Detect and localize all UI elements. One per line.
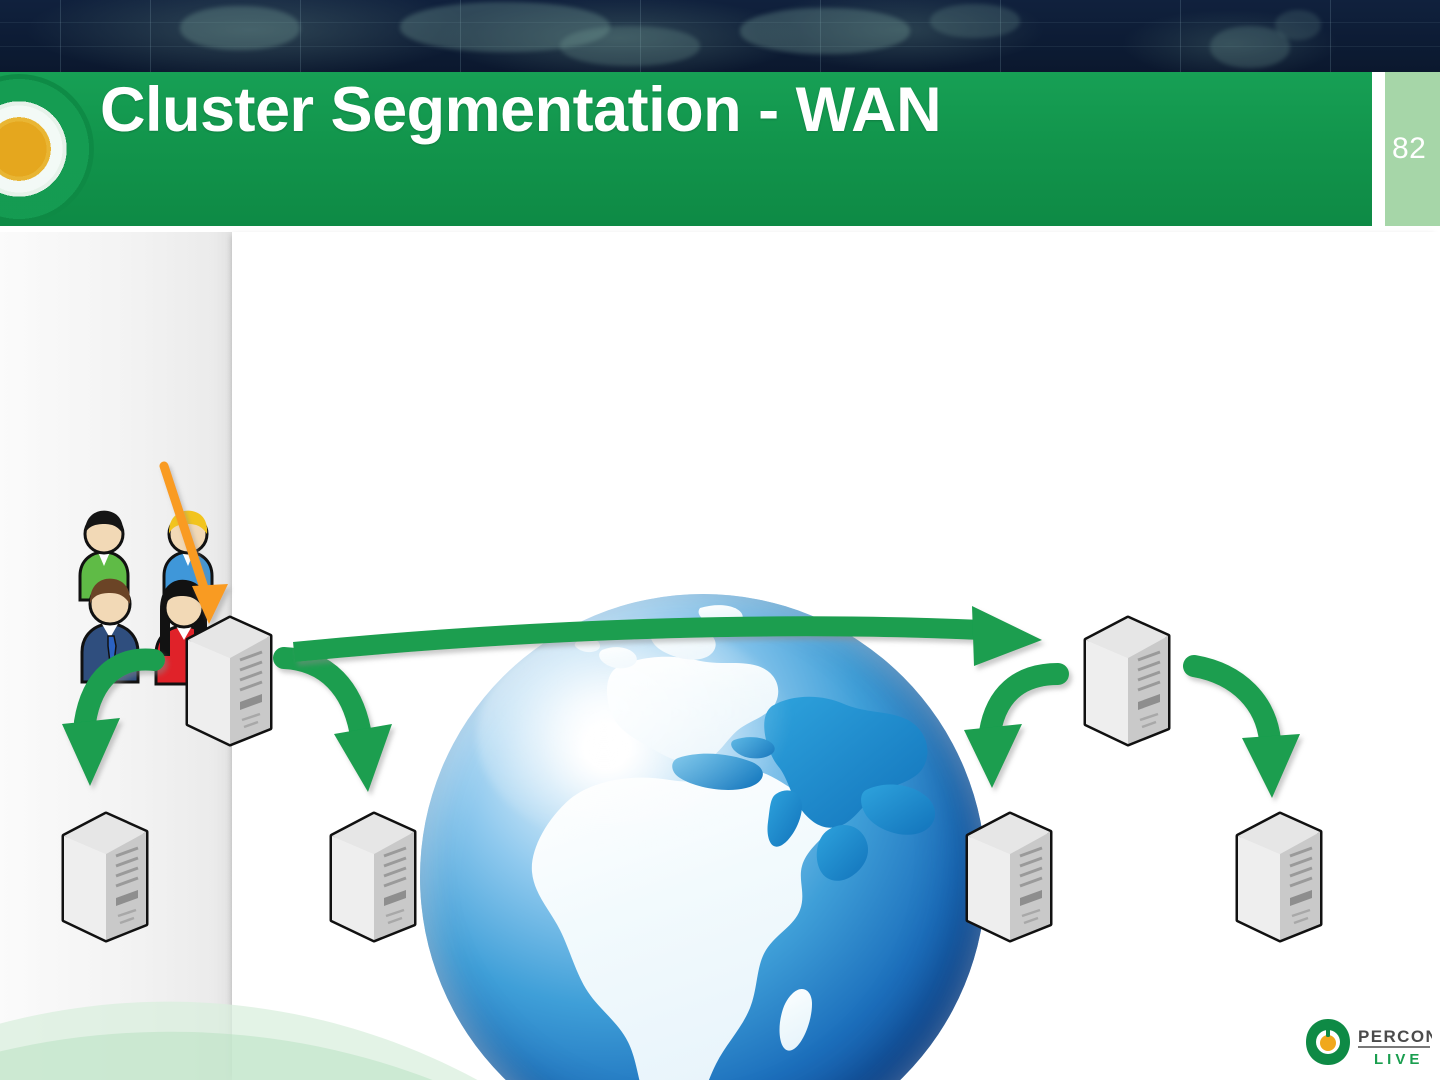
brand-primary-text: PERCONA (1358, 1027, 1432, 1046)
server-node-left-slave-2[interactable] (326, 806, 418, 944)
percona-circle-logo-icon (1306, 1019, 1350, 1065)
presentation-slide: Cluster Segmentation - WAN 82 (0, 0, 1440, 1080)
diagram-stage (0, 226, 1440, 1080)
server-node-left-slave-1[interactable] (58, 806, 150, 944)
server-node-right-slave-1[interactable] (962, 806, 1054, 944)
page-number: 82 (1392, 132, 1426, 166)
top-banner-worldmap (0, 0, 1440, 72)
slide-body (0, 226, 1440, 1080)
server-node-right-master[interactable] (1080, 610, 1172, 748)
arrow-right-master-to-slave-2 (1194, 666, 1300, 798)
percona-circle-logo-icon (0, 74, 94, 224)
globe-earth-icon (420, 594, 986, 1080)
percona-live-logo: PERCONA LIVE (1300, 1016, 1432, 1068)
brand-secondary-text: LIVE (1374, 1051, 1423, 1068)
arrow-left-master-to-slave-2 (284, 658, 392, 792)
server-node-right-slave-2[interactable] (1232, 806, 1324, 944)
server-node-left-master[interactable] (182, 610, 274, 748)
page-title: Cluster Segmentation - WAN (100, 74, 941, 146)
